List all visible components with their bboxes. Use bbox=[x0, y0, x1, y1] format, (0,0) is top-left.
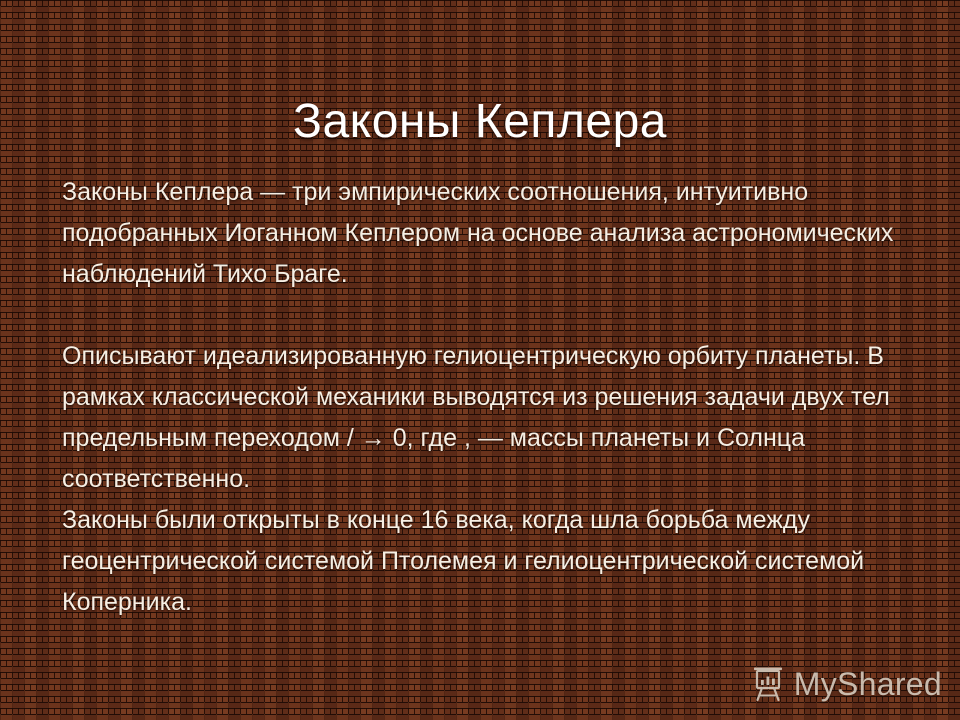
myshared-watermark: MyShared bbox=[751, 666, 942, 702]
body-paragraph-3: Законы были открыты в конце 16 века, ког… bbox=[62, 500, 912, 623]
watermark-label: MyShared bbox=[794, 668, 942, 700]
presentation-board-icon bbox=[751, 666, 785, 702]
slide-body: Законы Кеплера — три эмпирических соотно… bbox=[62, 172, 912, 623]
body-paragraph-2: Описывают идеализированную гелиоцентриче… bbox=[62, 336, 912, 500]
body-paragraph-1: Законы Кеплера — три эмпирических соотно… bbox=[62, 172, 912, 295]
presentation-slide: Законы Кеплера Законы Кеплера — три эмпи… bbox=[0, 0, 960, 720]
slide-title: Законы Кеплера bbox=[0, 94, 960, 149]
